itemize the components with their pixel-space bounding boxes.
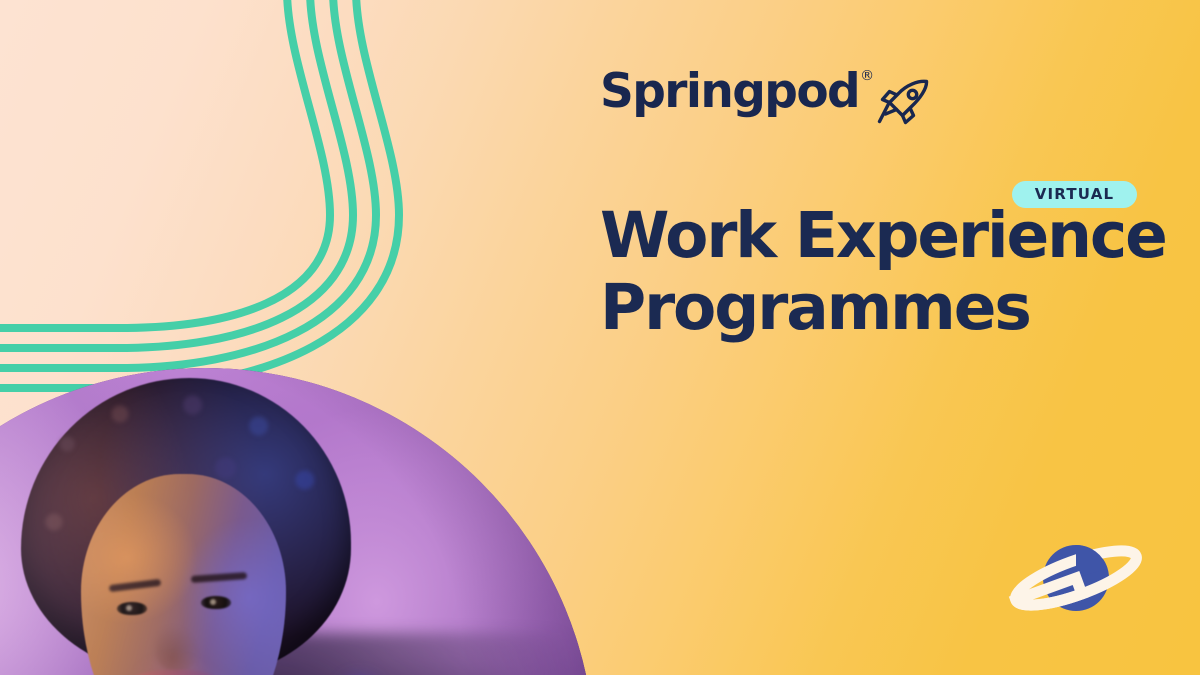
portrait-photo xyxy=(0,368,595,675)
springpod-logo[interactable]: Springpod ® xyxy=(600,68,932,133)
promotional-banner: Springpod ® VIRTUAL Work Experience Prog… xyxy=(0,0,1200,675)
headline: Work Experience Programmes xyxy=(600,200,1160,344)
springpod-wordmark: Springpod xyxy=(600,68,859,115)
saturn-planet-icon xyxy=(1008,532,1144,629)
registered-trademark-icon: ® xyxy=(860,69,874,83)
headline-line-1: Work Experience xyxy=(600,200,1160,272)
headline-line-2: Programmes xyxy=(600,272,1160,344)
portrait-photo-image xyxy=(0,368,595,675)
photo-vignette xyxy=(0,368,595,675)
rocket-icon xyxy=(876,78,932,133)
